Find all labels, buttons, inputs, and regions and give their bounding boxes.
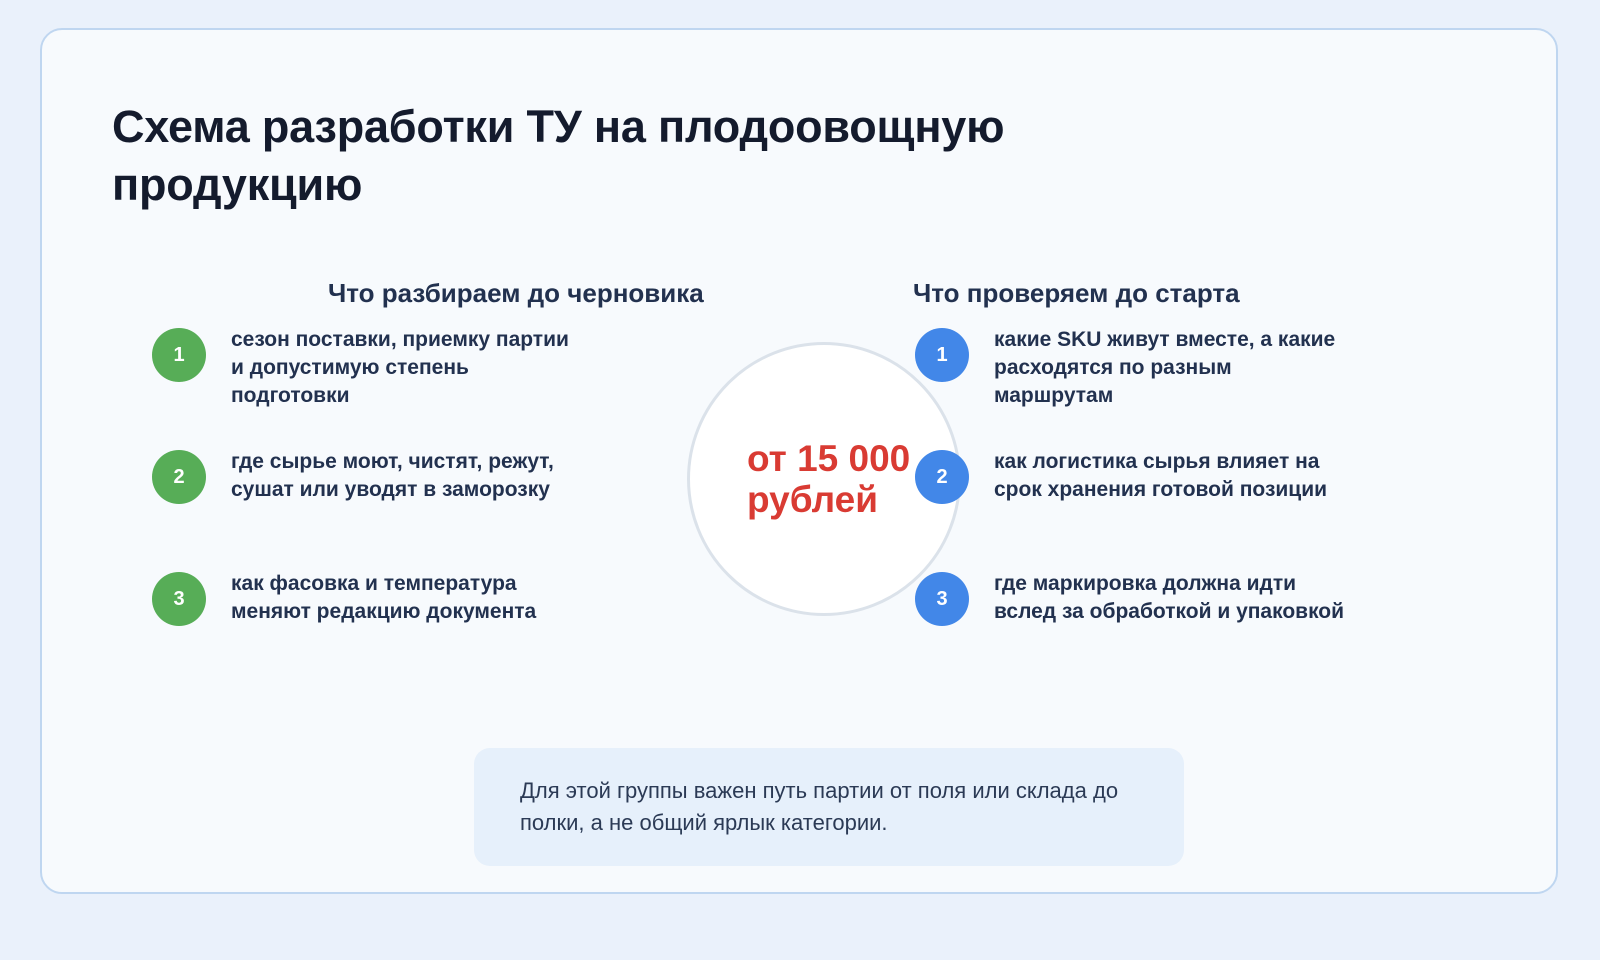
list-item: 2 как логистика сырья влияет на срок хра… [915, 442, 1345, 504]
list-item-label: какие SKU живут вместе, а какие расходят… [994, 320, 1345, 410]
list-item: 2 где сырье моют, чистят, режут, сушат и… [152, 442, 582, 504]
price-label: от 15 000 рублей [729, 438, 919, 521]
step-badge-left-3: 3 [152, 572, 206, 626]
list-item: 1 какие SKU живут вместе, а какие расход… [915, 320, 1345, 410]
step-badge-right-2: 2 [915, 450, 969, 504]
right-column-heading: Что проверяем до старта [913, 278, 1240, 309]
step-badge-right-3: 3 [915, 572, 969, 626]
list-item-label: как фасовка и температура меняют редакци… [231, 564, 576, 626]
main-card: Схема разработки ТУ на плодоовощную прод… [40, 28, 1558, 894]
page-title: Схема разработки ТУ на плодоовощную прод… [112, 98, 1012, 213]
step-badge-left-1: 1 [152, 328, 206, 382]
list-item-label: как логистика сырья влияет на срок хране… [994, 442, 1345, 504]
step-badge-right-1: 1 [915, 328, 969, 382]
step-badge-left-2: 2 [152, 450, 206, 504]
list-item: 3 где маркировка должна идти вслед за об… [915, 564, 1345, 626]
list-item: 1 сезон поставки, приемку партии и допус… [152, 320, 582, 410]
list-item: 3 как фасовка и температура меняют редак… [152, 564, 582, 626]
footer-note-text: Для этой группы важен путь партии от пол… [474, 775, 1184, 840]
footer-note: Для этой группы важен путь партии от пол… [474, 748, 1184, 866]
list-item-label: сезон поставки, приемку партии и допусти… [231, 320, 576, 410]
list-item-label: где маркировка должна идти вслед за обра… [994, 564, 1345, 626]
infographic-canvas: Схема разработки ТУ на плодоовощную прод… [0, 0, 1600, 960]
list-item-label: где сырье моют, чистят, режут, сушат или… [231, 442, 576, 504]
left-column-heading: Что разбираем до черновика [328, 278, 704, 309]
